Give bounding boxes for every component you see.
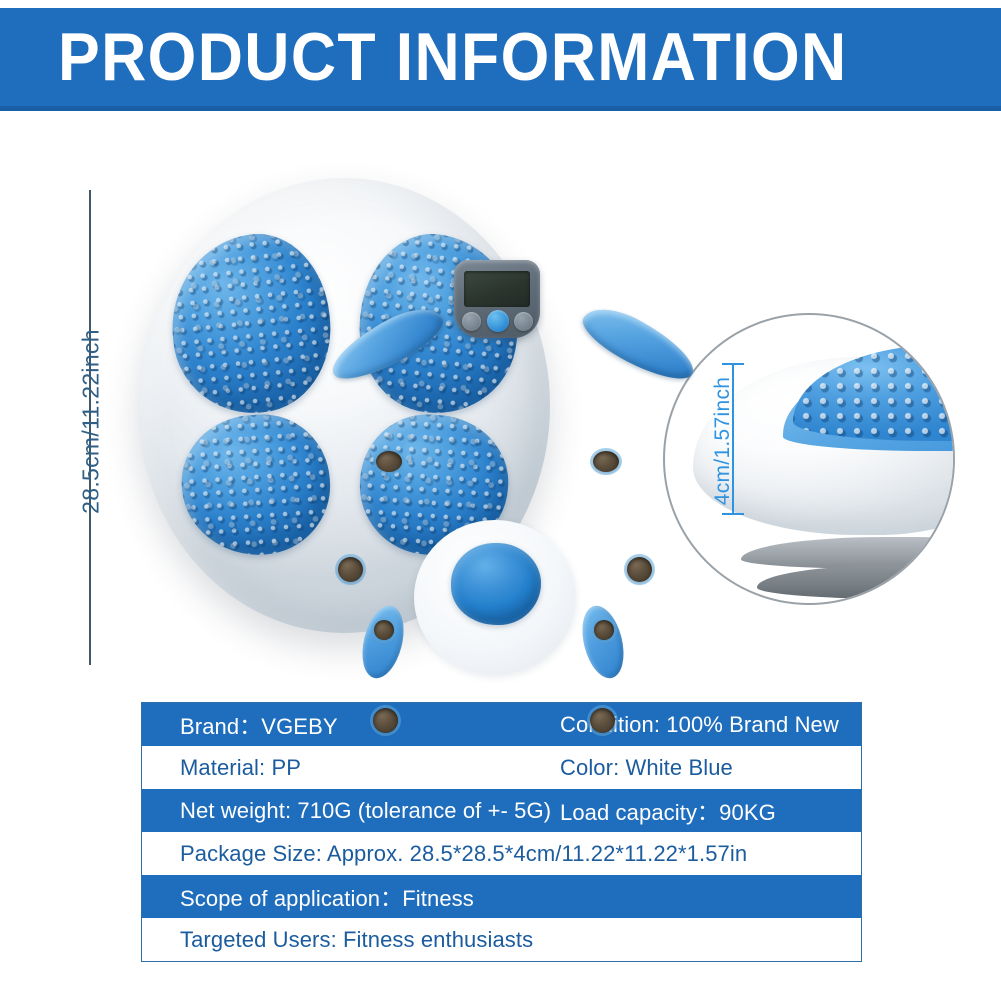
counter-button-mode bbox=[487, 310, 509, 332]
massage-pad-top-left bbox=[163, 227, 339, 421]
detail-massage-nubs bbox=[793, 345, 955, 441]
page-header-banner: PRODUCT INFORMATION bbox=[0, 8, 1001, 111]
spec-cell-package-size: Package Size: Approx. 28.5*28.5*4cm/11.2… bbox=[180, 841, 861, 867]
table-row: Brand：VGEBY Condition: 100% Brand New bbox=[142, 703, 861, 746]
massage-pad-bottom-left bbox=[177, 410, 334, 560]
page-title: PRODUCT INFORMATION bbox=[58, 23, 848, 91]
digital-counter bbox=[454, 260, 540, 338]
detail-base-layer-lower bbox=[757, 565, 955, 599]
magnet-inner-right bbox=[594, 620, 614, 640]
spec-cell-scope-of-application: Scope of application：Fitness bbox=[180, 881, 861, 913]
counter-lcd-screen bbox=[464, 271, 530, 307]
diameter-dimension-label: 28.5cm/11.22inch bbox=[78, 207, 105, 637]
spec-cell-net-weight: Net weight: 710G (tolerance of +- 5G) bbox=[180, 798, 560, 824]
table-row: Net weight: 710G (tolerance of +- 5G) Lo… bbox=[142, 789, 861, 832]
spec-cell-color: Color: White Blue bbox=[560, 755, 861, 781]
thickness-detail-circle: 4cm/1.57inch bbox=[663, 313, 955, 605]
spec-cell-targeted-users: Targeted Users: Fitness enthusiasts bbox=[180, 927, 861, 953]
diameter-dimension: 28.5cm/11.22inch bbox=[52, 190, 112, 665]
product-photo-area: 28.5cm/11.22inch bbox=[0, 120, 1001, 690]
magnet-mid-left bbox=[338, 557, 363, 582]
magnet-mount-right bbox=[576, 602, 631, 683]
twister-board-image bbox=[138, 165, 550, 645]
table-row: Material: PP Color: White Blue bbox=[142, 746, 861, 789]
table-row: Package Size: Approx. 28.5*28.5*4cm/11.2… bbox=[142, 832, 861, 875]
ridge-handle-right bbox=[575, 297, 702, 391]
thickness-dimension: 4cm/1.57inch bbox=[695, 363, 739, 515]
magnet-inner-left bbox=[374, 620, 394, 640]
thickness-dimension-label: 4cm/1.57inch bbox=[711, 361, 735, 521]
magnet-top-left bbox=[376, 451, 402, 472]
spec-cell-brand: Brand：VGEBY bbox=[180, 709, 560, 741]
spec-cell-load-capacity: Load capacity：90KG bbox=[560, 795, 861, 827]
magnet-top-right bbox=[593, 451, 619, 472]
product-information-page: PRODUCT INFORMATION 28.5cm/11.22inch bbox=[0, 0, 1001, 1001]
magnet-mid-right bbox=[627, 557, 652, 582]
specification-table: Brand：VGEBY Condition: 100% Brand New Ma… bbox=[141, 702, 862, 962]
magnet-bottom-left bbox=[373, 708, 398, 733]
spec-cell-material: Material: PP bbox=[180, 755, 560, 781]
table-row: Targeted Users: Fitness enthusiasts bbox=[142, 918, 861, 961]
counter-button-left bbox=[462, 312, 481, 331]
counter-button-right bbox=[514, 312, 533, 331]
board-center-hub bbox=[451, 543, 541, 625]
magnet-bottom-right bbox=[590, 708, 615, 733]
table-row: Scope of application：Fitness bbox=[142, 875, 861, 918]
